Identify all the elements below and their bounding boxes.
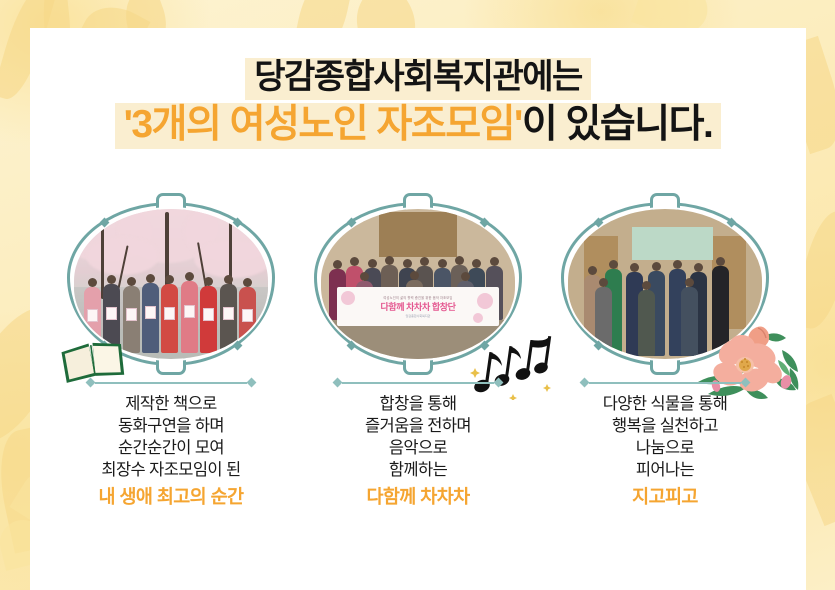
group-columns: 제작한 책으로 동화구연을 하며 순간순간이 모여 최장수 자조모임이 된 내 … [30, 196, 806, 509]
caption-line: 순간순간이 모여 [48, 438, 294, 460]
caption-line: 최장수 자조모임이 된 [48, 460, 294, 482]
caption-line: 즐거움을 전하며 [295, 416, 541, 438]
caption-divider-3 [581, 378, 749, 388]
cherry-blossom-group-photo [74, 209, 268, 359]
banner-title: 다함께 차차차 합창단 [380, 300, 455, 313]
caption-group-name: 다함께 차차차 [295, 485, 541, 510]
frame-nub-bottom [650, 358, 680, 375]
caption-line: 동화구연을 하며 [48, 416, 294, 438]
headline-line-2-text: '3개의 여성노인 자조모임'이 있습니다. [115, 103, 722, 150]
caption-divider-2 [334, 378, 502, 388]
caption-line: 행복을 실천하고 [542, 416, 788, 438]
headline-accent-text: '3개의 여성노인 자조모임' [124, 103, 522, 146]
banner-logo-text: 당감종합사회복지관 [406, 314, 431, 318]
caption-block-3: 다양한 식물을 통해 행복을 실천하고 나눔으로 피어나는 지고피고 [542, 394, 788, 509]
pink-flower-icon [690, 316, 802, 404]
frame-nub-top [403, 193, 433, 210]
frame-nub-bottom [156, 358, 186, 375]
choir-banner: 여성노인의 삶의 활력 증진을 위한 음악 자조모임 다함께 차차차 합창단 당… [337, 287, 500, 326]
caption-divider-1 [87, 378, 255, 388]
headline-line-1-text: 당감종합사회복지관에는 [245, 58, 591, 100]
frame-nub-top [650, 193, 680, 210]
headline-line-2: '3개의 여성노인 자조모임'이 있습니다. [30, 103, 806, 150]
headline-line-1: 당감종합사회복지관에는 [30, 58, 806, 100]
music-notes-icon [469, 324, 553, 400]
headline-rest-text: 이 있습니다. [522, 103, 713, 146]
caption-line: 피어나는 [542, 460, 788, 482]
caption-line: 제작한 책으로 [48, 394, 294, 416]
caption-line: 나눔으로 [542, 438, 788, 460]
group-column-3: 다양한 식물을 통해 행복을 실천하고 나눔으로 피어나는 지고피고 [542, 196, 788, 509]
caption-group-name: 내 생애 최고의 순간 [48, 485, 294, 510]
caption-group-name: 지고피고 [542, 485, 788, 510]
content-card: 당감종합사회복지관에는 '3개의 여성노인 자조모임'이 있습니다. [30, 28, 806, 590]
frame-nub-top [156, 193, 186, 210]
frame-nub-bottom [403, 358, 433, 375]
caption-line: 함께하는 [295, 460, 541, 482]
caption-block-1: 제작한 책으로 동화구연을 하며 순간순간이 모여 최장수 자조모임이 된 내 … [48, 394, 294, 509]
caption-line: 음악으로 [295, 438, 541, 460]
photo-frame-wrap-3 [542, 196, 788, 374]
photo-frame-wrap-2: 여성노인의 삶의 활력 증진을 위한 음악 자조모임 다함께 차차차 합창단 당… [295, 196, 541, 374]
photo-frame-wrap-1 [48, 196, 294, 374]
headline-block: 당감종합사회복지관에는 '3개의 여성노인 자조모임'이 있습니다. [30, 28, 806, 149]
photo-clip-1 [74, 209, 268, 359]
group-column-1: 제작한 책으로 동화구연을 하며 순간순간이 모여 최장수 자조모임이 된 내 … [48, 196, 294, 509]
caption-block-2: 합창을 통해 즐거움을 전하며 음악으로 함께하는 다함께 차차차 [295, 394, 541, 509]
group-column-2: 여성노인의 삶의 활력 증진을 위한 음악 자조모임 다함께 차차차 합창단 당… [295, 196, 541, 509]
